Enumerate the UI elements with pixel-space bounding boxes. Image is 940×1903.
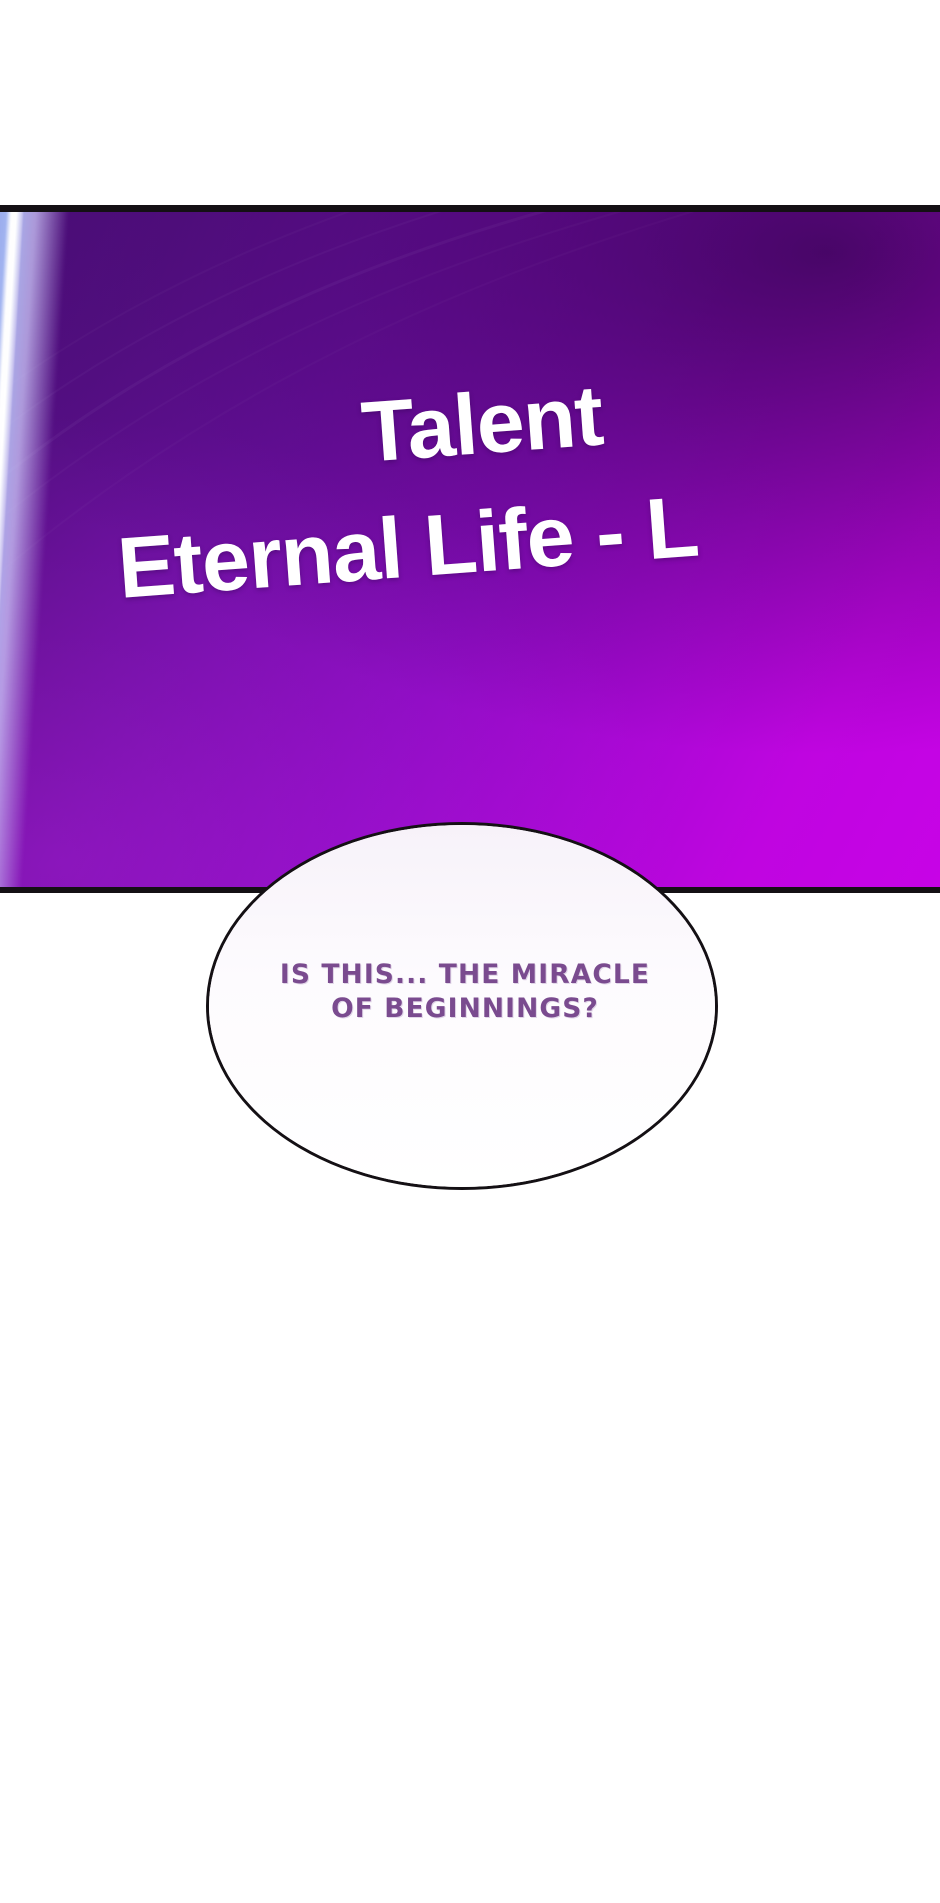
speech-bubble-line-2: OF BEGINNINGS? bbox=[209, 992, 721, 1026]
speech-bubble: IS THIS... THE MIRACLE OF BEGINNINGS? bbox=[206, 822, 718, 1190]
title-banner: Talent Eternal Life - L bbox=[0, 205, 940, 893]
speech-bubble-text: IS THIS... THE MIRACLE OF BEGINNINGS? bbox=[209, 958, 721, 1026]
banner-arc-decoration bbox=[0, 212, 940, 893]
comic-page: Talent Eternal Life - L IS THIS... THE M… bbox=[0, 0, 940, 1903]
speech-bubble-line-1: IS THIS... THE MIRACLE bbox=[209, 958, 721, 992]
